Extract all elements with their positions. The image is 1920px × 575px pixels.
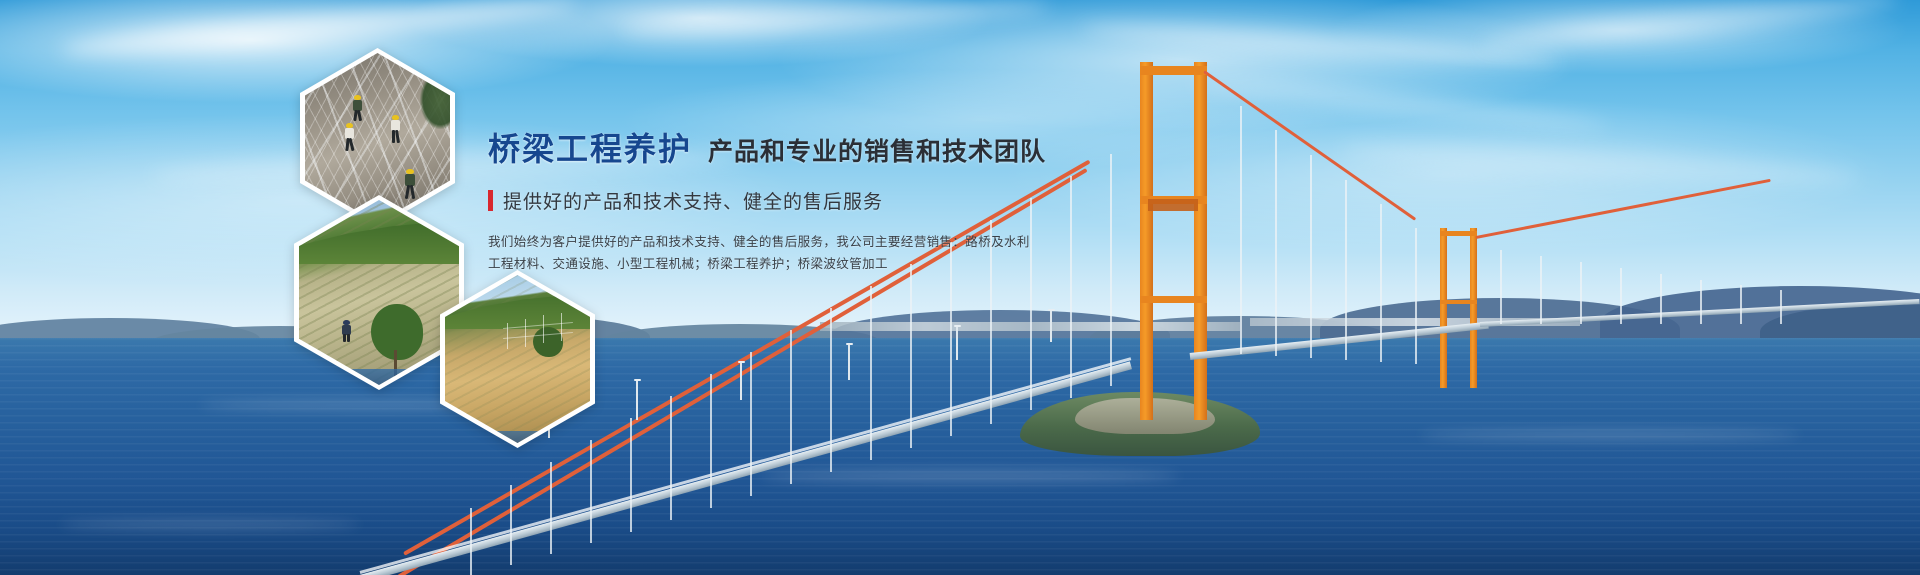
hero-text-block: 桥梁工程养护 产品和专业的销售和技术团队 提供好的产品和技术支持、健全的售后服务… — [488, 124, 1048, 275]
bridge-hanger — [750, 352, 752, 496]
bridge-hanger — [910, 264, 912, 448]
bridge-hanger — [550, 462, 552, 554]
description-block: 我们始终为客户提供好的产品和技术支持、健全的售后服务，我公司主要经营销售：路桥及… — [488, 231, 1048, 275]
hex2-tree-canopy — [371, 304, 423, 360]
headline-secondary: 产品和专业的销售和技术团队 — [708, 132, 1046, 168]
bridge-tower-far-right-leg — [1470, 228, 1477, 388]
bridge-hanger — [1110, 154, 1112, 386]
bridge-tower-far-left-leg — [1440, 228, 1447, 388]
bridge-hanger — [1500, 250, 1502, 324]
water-glint — [60, 520, 360, 529]
bridge-hanger — [1660, 274, 1662, 324]
bridge-tower-crossbeam-low — [1140, 296, 1207, 303]
bridge-hanger — [1740, 285, 1742, 324]
bridge-hanger — [670, 396, 672, 520]
worker-figure — [341, 320, 353, 342]
bridge-lamp-post — [636, 380, 638, 420]
description-line: 工程材料、交通设施、小型工程机械；桥梁工程养护；桥梁波纹管加工 — [488, 253, 1048, 275]
bridge-lamp-head — [1048, 309, 1055, 311]
bridge-hanger — [1620, 268, 1622, 324]
bridge-hanger — [830, 308, 832, 472]
description-line: 我们始终为客户提供好的产品和技术支持、健全的售后服务，我公司主要经营销售：路桥及… — [488, 231, 1048, 253]
worker-figure — [343, 123, 357, 151]
red-accent-bar — [488, 190, 493, 211]
hex2-sea-strip — [299, 369, 459, 385]
sea-ripples — [0, 338, 1920, 575]
hex-photo-2-image — [299, 200, 459, 385]
hex-photo-3[interactable] — [440, 270, 595, 448]
hex-photo-3-image — [445, 275, 590, 443]
bridge-hanger — [590, 440, 592, 543]
bridge-hanger — [870, 286, 872, 460]
bridge-tower-right-leg — [1194, 62, 1207, 420]
worker-figure — [389, 115, 403, 143]
bridge-hanger — [1540, 256, 1542, 324]
hero-banner: 桥梁工程养护 产品和专业的销售和技术团队 提供好的产品和技术支持、健全的售后服务… — [0, 0, 1920, 575]
bridge-lamp-head — [954, 325, 961, 327]
headline-row: 桥梁工程养护 产品和专业的销售和技术团队 — [488, 124, 1048, 170]
bridge-lamp-post — [1050, 310, 1052, 342]
bridge-hanger — [790, 330, 792, 484]
bridge-lamp-head — [846, 343, 853, 345]
hex2-tree-trunk — [394, 350, 397, 382]
bridge-tower-far-crossbeam-low — [1440, 300, 1477, 304]
bridge-hanger — [1380, 204, 1382, 362]
bridge-tower-sign — [1148, 199, 1198, 211]
headline-primary: 桥梁工程养护 — [488, 124, 692, 170]
water-glint — [1420, 430, 1800, 440]
worker-figure — [351, 95, 365, 121]
water-glint — [760, 470, 1180, 482]
fence-post — [525, 319, 526, 347]
bridge-hanger — [1240, 106, 1242, 354]
subtitle-row: 提供好的产品和技术支持、健全的售后服务 — [488, 187, 1048, 214]
bridge-tower-crossbeam-top — [1140, 66, 1207, 75]
bridge-lamp-head — [634, 379, 641, 381]
bridge-hanger — [1345, 180, 1347, 360]
fence-post — [543, 315, 544, 343]
bridge-hanger — [1070, 176, 1072, 398]
bridge-lamp-post — [740, 362, 742, 400]
bridge-tower-left-leg — [1140, 62, 1153, 420]
hex1-foliage — [420, 71, 450, 129]
bridge-lamp-post — [848, 344, 850, 380]
bridge-hanger — [710, 374, 712, 508]
hex3-tree-canopy — [533, 327, 563, 357]
bridge-tower-far-crossbeam — [1440, 231, 1477, 236]
bridge-hanger — [510, 485, 512, 565]
hex-photo-2[interactable] — [294, 195, 464, 390]
fence-post — [561, 313, 562, 341]
bridge-hanger — [1275, 130, 1277, 356]
bridge-lamp-head — [738, 361, 745, 363]
bridge-hanger — [630, 418, 632, 532]
hex3-sea-strip — [445, 431, 590, 443]
bridge-hanger — [1310, 155, 1312, 358]
bridge-hanger — [470, 508, 472, 575]
bridge-hanger — [1580, 262, 1582, 324]
bridge-hanger — [1780, 290, 1782, 324]
bridge-hanger — [1700, 280, 1702, 324]
subtitle-text: 提供好的产品和技术支持、健全的售后服务 — [503, 187, 883, 214]
bridge-hanger — [1415, 228, 1417, 364]
bridge-lamp-post — [956, 326, 958, 360]
